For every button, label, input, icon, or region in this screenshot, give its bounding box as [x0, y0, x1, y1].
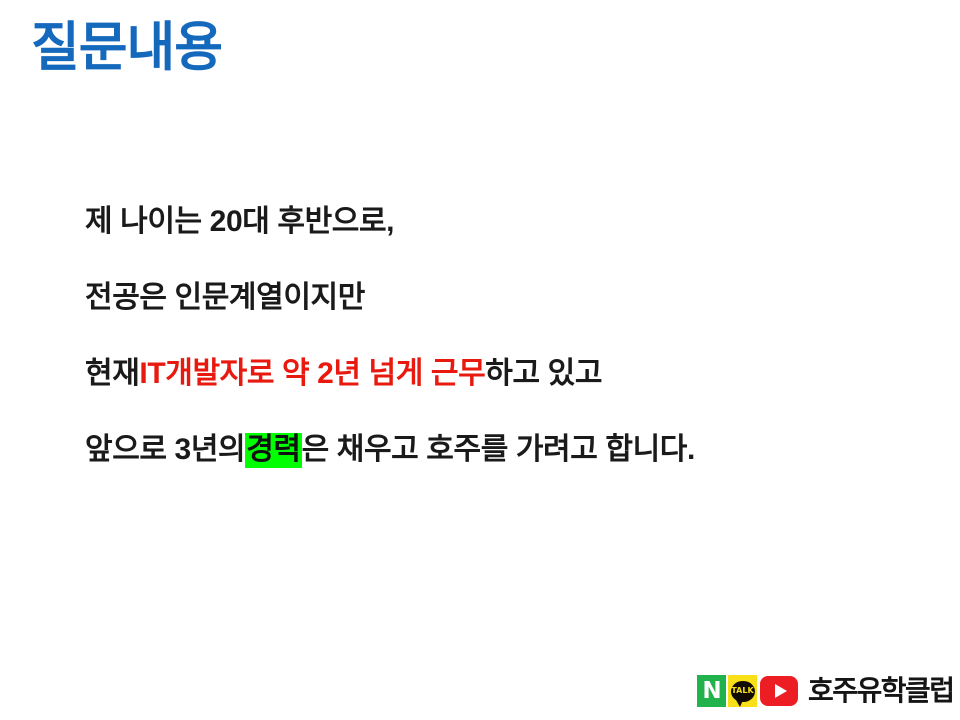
body-line-3-segment-1: 현재 [85, 359, 139, 389]
body-line-1: 제 나이는 20대 후반으로, [85, 207, 915, 283]
brand-wordmark: 호주유학클럽 [808, 677, 954, 705]
body-line-3: 현재 IT개발자로 약 2년 넘게 근무 하고 있고 [85, 359, 915, 435]
naver-n-glyph: N [702, 680, 720, 703]
page-title: 질문내용 [31, 18, 222, 79]
kakaotalk-icon[interactable]: TALK [728, 675, 757, 707]
slide-canvas: 질문내용 제 나이는 20대 후반으로, 전공은 인문계열이지만 현재 IT개발… [0, 0, 960, 720]
brand-logo-bar: N TALK 호주유학클럽 [697, 673, 954, 709]
body-line-3-segment-3: 하고 있고 [485, 359, 602, 389]
kakao-talk-label: TALK [731, 687, 753, 695]
body-line-3-segment-highlighted-red: IT개발자로 약 2년 넘게 근무 [139, 359, 485, 389]
body-line-2: 전공은 인문계열이지만 [85, 283, 915, 359]
body-line-4-segment-3: 은 채우고 호주를 가려고 합니다. [302, 435, 695, 465]
naver-n-icon[interactable]: N [697, 675, 726, 707]
youtube-play-icon[interactable] [760, 676, 798, 706]
youtube-triangle-glyph [775, 684, 787, 698]
kakao-speech-bubble-icon: TALK [731, 681, 755, 702]
body-line-4-segment-1: 앞으로 3년의 [85, 435, 245, 465]
body-line-4: 앞으로 3년의 경력 은 채우고 호주를 가려고 합니다. [85, 435, 915, 511]
body-text-block: 제 나이는 20대 후반으로, 전공은 인문계열이지만 현재 IT개발자로 약 … [85, 207, 915, 511]
body-line-2-segment-1: 전공은 인문계열이지만 [85, 283, 365, 313]
body-line-1-segment-1: 제 나이는 20대 후반으로, [85, 207, 394, 237]
body-line-4-segment-highlighted-green: 경력 [245, 433, 301, 468]
